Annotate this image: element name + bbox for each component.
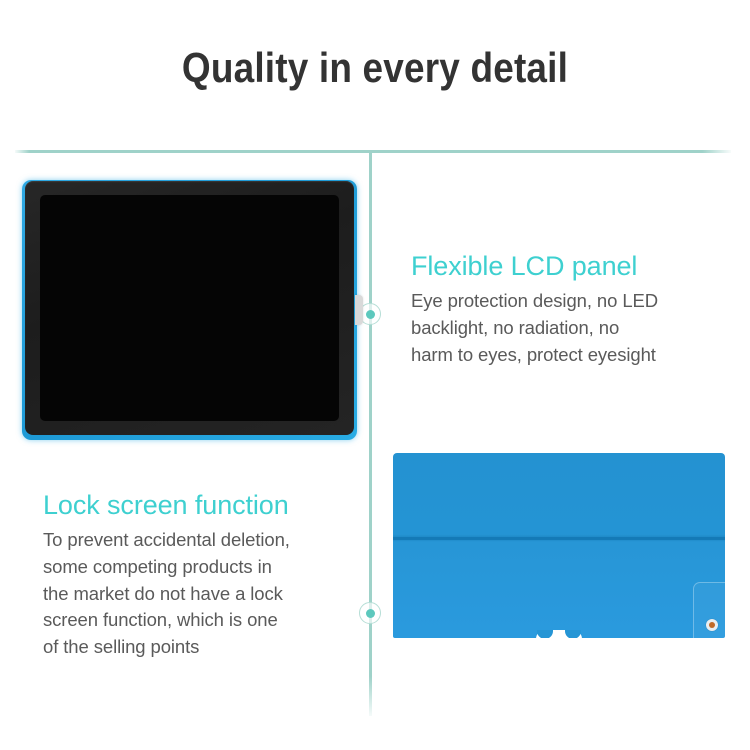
feature-body-line: of the selling points — [43, 634, 363, 661]
feature-block-flexible-lcd-panel: Flexible LCD panel Eye protection design… — [411, 251, 731, 368]
feature-body-line: the market do not have a lock — [43, 581, 363, 608]
tablet-side-button — [355, 295, 363, 325]
panel-seam-line — [393, 537, 725, 540]
tablet-screen — [40, 195, 339, 421]
panel-bottom-notch — [536, 630, 582, 638]
horizontal-divider — [15, 150, 731, 153]
feature-body-flexible-lcd-panel: Eye protection design, no LED backlight,… — [411, 288, 731, 368]
feature-body-line: harm to eyes, protect eyesight — [411, 342, 731, 369]
feature-heading-lock-screen-function: Lock screen function — [43, 490, 363, 521]
feature-block-lock-screen-function: Lock screen function To prevent accident… — [43, 490, 363, 661]
panel-screw-icon — [706, 619, 718, 631]
feature-body-line: To prevent accidental deletion, — [43, 527, 363, 554]
tablet-bezel — [25, 181, 354, 435]
feature-body-lock-screen-function: To prevent accidental deletion, some com… — [43, 527, 363, 661]
feature-body-line: screen function, which is one — [43, 607, 363, 634]
page-title: Quality in every detail — [45, 44, 705, 92]
infographic-page: Quality in every detail Flexible LCD pan… — [0, 0, 750, 750]
vertical-divider — [369, 150, 372, 716]
feature-body-line: backlight, no radiation, no — [411, 315, 731, 342]
feature-heading-flexible-lcd-panel: Flexible LCD panel — [411, 251, 731, 282]
feature-body-line: some competing products in — [43, 554, 363, 581]
tablet-back-blue-panel-image — [393, 453, 725, 638]
tablet-front-image — [22, 180, 357, 440]
feature-body-line: Eye protection design, no LED — [411, 288, 731, 315]
